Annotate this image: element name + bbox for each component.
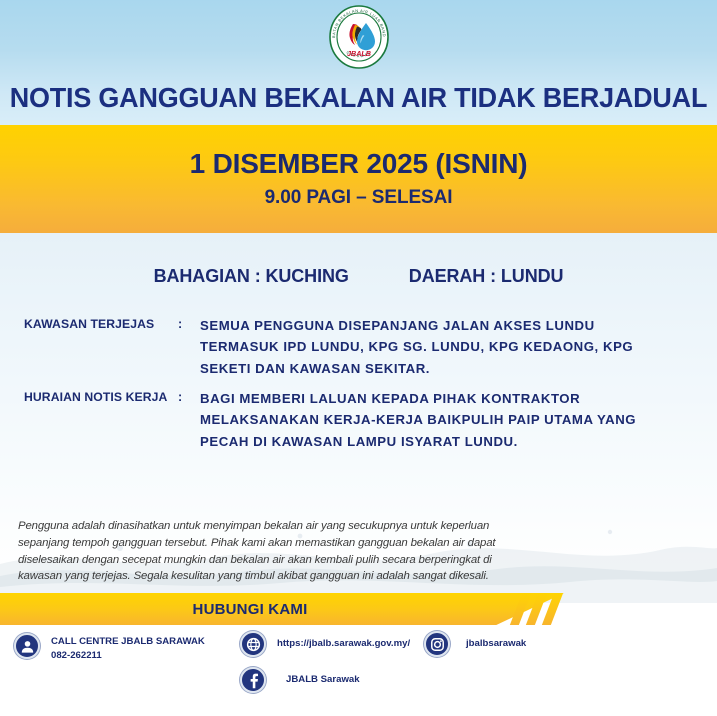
contact-text: jbalbsarawak: [466, 631, 526, 651]
region-row: BAHAGIAN : KUCHING DAERAH : LUNDU: [0, 266, 717, 287]
detail-value: SEMUA PENGGUNA DISEPANJANG JALAN AKSES L…: [200, 315, 665, 379]
division-label: BAHAGIAN : KUCHING: [154, 266, 349, 287]
poster-body: BAHAGIAN : KUCHING DAERAH : LUNDU KAWASA…: [0, 233, 717, 716]
detail-block-affected-area: KAWASAN TERJEJAS : SEMUA PENGGUNA DISEPA…: [0, 315, 717, 379]
instagram-icon: [424, 631, 450, 657]
contact-line2: 082-262211: [51, 649, 205, 663]
contact-text: https://jbalb.sarawak.gov.my/: [277, 631, 410, 651]
contact-text: JBALB Sarawak: [286, 667, 360, 687]
notice-time: 9.00 PAGI – SELESAI: [265, 187, 453, 209]
notice-date: 1 DISEMBER 2025 (ISNIN): [190, 149, 528, 178]
contact-call-centre[interactable]: CALL CENTRE JBALB SARAWAK 082-262211: [14, 633, 205, 662]
district-label: DAERAH : LUNDU: [409, 266, 564, 287]
detail-label: KAWASAN TERJEJAS: [0, 315, 178, 331]
contact-text: CALL CENTRE JBALB SARAWAK 082-262211: [51, 633, 205, 662]
date-band: 1 DISEMBER 2025 (ISNIN) 9.00 PAGI – SELE…: [0, 125, 717, 233]
disclaimer-text: Pengguna adalah dinasihatkan untuk menyi…: [18, 518, 518, 585]
detail-value: BAGI MEMBERI LALUAN KEPADA PIHAK KONTRAK…: [200, 388, 665, 452]
detail-colon: :: [178, 315, 200, 331]
detail-colon: :: [178, 388, 200, 404]
jbalb-seal-logo: JABATAN BEKALAN AIR LUAR BANDAR SARAWAK …: [326, 4, 392, 70]
contact-bar-label: HUBUNGI KAMI: [0, 593, 500, 625]
contact-line1: JBALB Sarawak: [286, 674, 360, 685]
contact-facebook[interactable]: JBALB Sarawak: [240, 667, 360, 693]
contact-instagram[interactable]: jbalbsarawak: [424, 631, 526, 657]
poster-header: JABATAN BEKALAN AIR LUAR BANDAR SARAWAK …: [0, 0, 717, 125]
contact-line1: https://jbalb.sarawak.gov.my/: [277, 638, 410, 649]
notice-poster: JABATAN BEKALAN AIR LUAR BANDAR SARAWAK …: [0, 0, 717, 716]
contact-bar-wrapper: HUBUNGI KAMI: [0, 593, 717, 625]
svg-text:JBALB: JBALB: [347, 49, 371, 58]
detail-label: HURAIAN NOTIS KERJA: [0, 388, 178, 404]
facebook-icon: [240, 667, 266, 693]
person-icon: [14, 633, 40, 659]
contact-line1: jbalbsarawak: [466, 638, 526, 649]
detail-block-work-description: HURAIAN NOTIS KERJA : BAGI MEMBERI LALUA…: [0, 388, 717, 452]
page-title: NOTIS GANGGUAN BEKALAN AIR TIDAK BERJADU…: [7, 82, 710, 114]
contact-list: CALL CENTRE JBALB SARAWAK 082-262211 htt…: [0, 629, 717, 716]
contact-website[interactable]: https://jbalb.sarawak.gov.my/: [240, 631, 410, 657]
contact-line1: CALL CENTRE JBALB SARAWAK: [51, 636, 205, 647]
globe-icon: [240, 631, 266, 657]
